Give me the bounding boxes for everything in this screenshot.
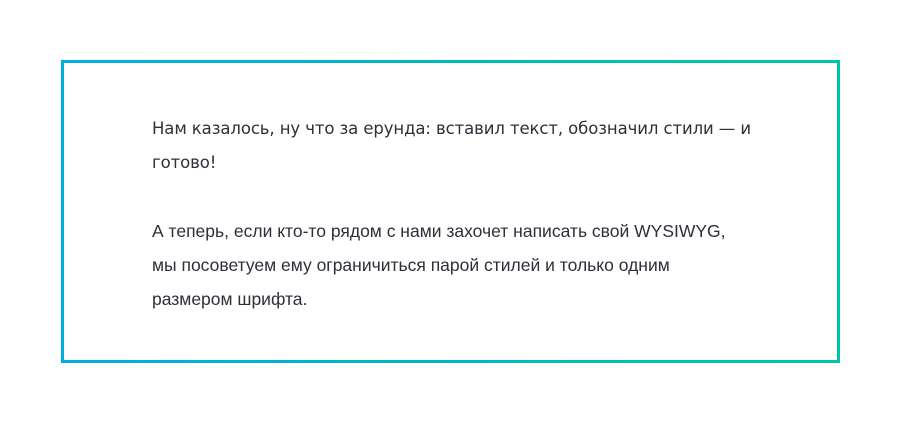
quote-callout-box: Нам казалось, ну что за ерунда: вставил … [61, 60, 840, 363]
page-canvas: Нам казалось, ну что за ерунда: вставил … [0, 0, 900, 425]
quote-text-body: Нам казалось, ну что за ерунда: вставил … [152, 112, 752, 316]
quote-paragraph-lead: Нам казалось, ну что за ерунда: вставил … [152, 112, 752, 180]
quote-paragraph-follow: А теперь, если кто-то рядом с нами захоч… [152, 214, 752, 316]
quote-callout-inner: Нам казалось, ну что за ерунда: вставил … [64, 63, 837, 360]
